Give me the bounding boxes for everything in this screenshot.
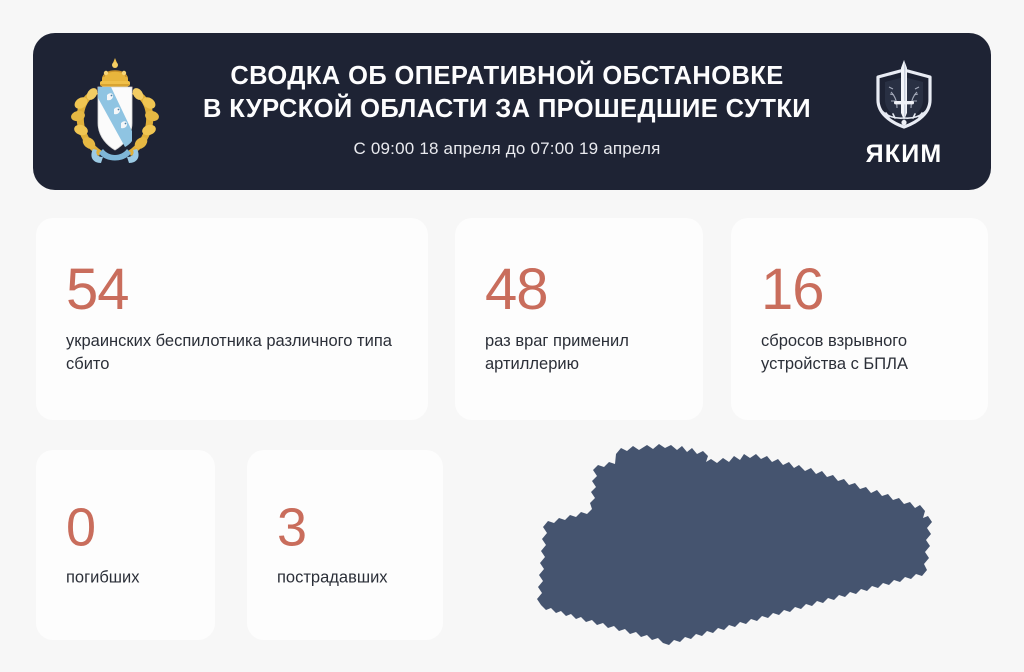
brand-logo: ЯКИМ bbox=[839, 49, 969, 174]
kursk-oblast-coat-of-arms-icon bbox=[55, 52, 175, 172]
header-banner: СВОДКА ОБ ОПЕРАТИВНОЙ ОБСТАНОВКЕ В КУРСК… bbox=[33, 33, 991, 190]
stat-card-killed: 0 погибших bbox=[36, 450, 215, 640]
stat-caption-artillery: раз враг применил артиллерию bbox=[485, 330, 681, 377]
stat-caption-killed: погибших bbox=[66, 566, 199, 589]
stat-card-drones: 54 украинских беспилотника различного ти… bbox=[36, 218, 428, 420]
stat-value-drones: 54 bbox=[66, 261, 406, 319]
infographic-page: СВОДКА ОБ ОПЕРАТИВНОЙ ОБСТАНОВКЕ В КУРСК… bbox=[0, 0, 1024, 672]
kursk-oblast-map-silhouette-icon bbox=[520, 432, 940, 660]
stat-value-killed: 0 bbox=[66, 500, 199, 554]
stat-caption-injured: пострадавших bbox=[277, 566, 427, 589]
shield-sword-icon bbox=[867, 56, 941, 138]
stat-value-artillery: 48 bbox=[485, 261, 681, 319]
stat-value-drops: 16 bbox=[761, 261, 966, 319]
stat-caption-drops: сбросов взрывного устройства с БПЛА bbox=[761, 330, 966, 377]
stat-caption-drones: украинских беспилотника различного типа … bbox=[66, 330, 406, 377]
stat-card-artillery: 48 раз враг применил артиллерию bbox=[455, 218, 703, 420]
header-text-block: СВОДКА ОБ ОПЕРАТИВНОЙ ОБСТАНОВКЕ В КУРСК… bbox=[175, 60, 839, 163]
stat-value-injured: 3 bbox=[277, 500, 427, 554]
stat-card-injured: 3 пострадавших bbox=[247, 450, 443, 640]
brand-wordmark: ЯКИМ bbox=[866, 142, 943, 167]
page-title-line-1: СВОДКА ОБ ОПЕРАТИВНОЙ ОБСТАНОВКЕ bbox=[230, 60, 783, 93]
report-period-subtitle: С 09:00 18 апреля до 07:00 19 апреля bbox=[353, 139, 660, 159]
page-title-line-2: В КУРСКОЙ ОБЛАСТИ ЗА ПРОШЕДШИЕ СУТКИ bbox=[203, 93, 811, 126]
stat-card-drops: 16 сбросов взрывного устройства с БПЛА bbox=[731, 218, 988, 420]
